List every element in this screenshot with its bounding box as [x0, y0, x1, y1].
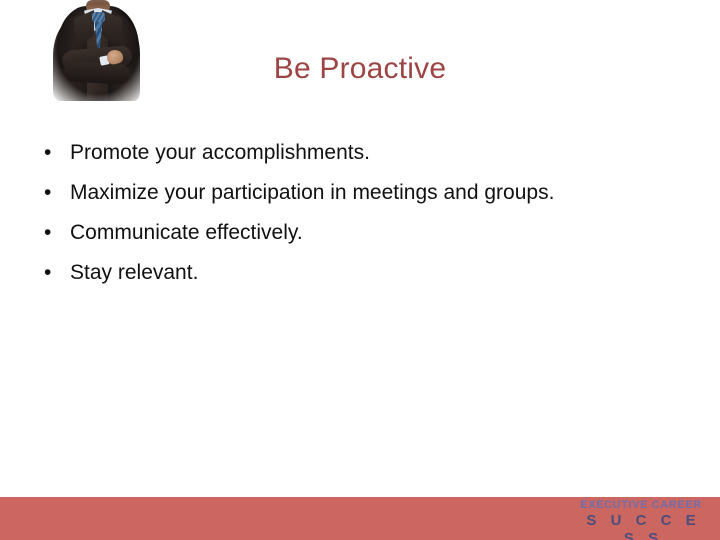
- necktie-knot: [92, 12, 105, 22]
- bullet-marker-icon: •: [44, 253, 51, 293]
- list-item: • Stay relevant.: [38, 253, 698, 293]
- slide: Be Proactive • Promote your accomplishme…: [0, 0, 720, 540]
- bullet-marker-icon: •: [44, 173, 51, 213]
- bullet-list: • Promote your accomplishments. • Maximi…: [38, 133, 698, 293]
- list-item-text: Maximize your participation in meetings …: [70, 181, 554, 204]
- brand-logo: EXECUTIVE CAREER S U C C E S S: [576, 497, 706, 540]
- crossed-arm-lower: [64, 61, 131, 84]
- brand-logo-line1: EXECUTIVE CAREER: [576, 497, 706, 512]
- list-item: • Maximize your participation in meeting…: [38, 173, 698, 213]
- list-item: • Communicate effectively.: [38, 213, 698, 253]
- brand-logo-line2: S U C C E S S: [576, 512, 706, 540]
- businessman-photo: [48, 0, 148, 101]
- list-item-text: Promote your accomplishments.: [70, 141, 370, 164]
- slide-title: Be Proactive: [160, 50, 560, 88]
- list-item-text: Stay relevant.: [70, 261, 198, 284]
- businessman-figure: [48, 0, 148, 101]
- bullet-marker-icon: •: [44, 133, 51, 173]
- list-item: • Promote your accomplishments.: [38, 133, 698, 173]
- footer-bar: EXECUTIVE CAREER S U C C E S S: [0, 497, 720, 540]
- bullet-marker-icon: •: [44, 213, 51, 253]
- list-item-text: Communicate effectively.: [70, 221, 303, 244]
